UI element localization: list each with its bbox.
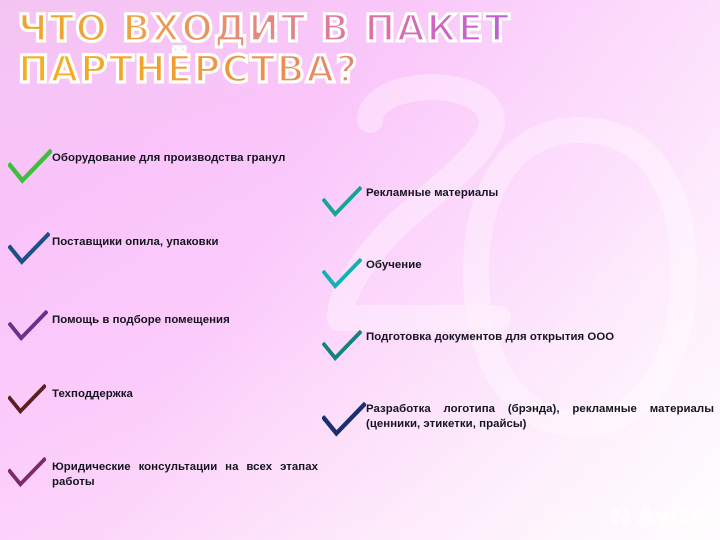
feature-label: Техподдержка xyxy=(52,384,318,402)
avito-dots-icon xyxy=(611,506,633,526)
feature-check-wrapper xyxy=(322,330,366,364)
feature-item: Юридические консультации на всех этапах … xyxy=(8,457,318,490)
feature-check-wrapper xyxy=(8,232,52,268)
feature-check-wrapper xyxy=(322,258,366,292)
checkmark-icon xyxy=(322,186,362,220)
feature-item: Обучение xyxy=(322,258,714,292)
poster-canvas: ЧТО ВХОДИТ В ПАКЕТ ПАРТНЁРСТВА? Оборудов… xyxy=(0,0,720,540)
feature-label: Разработка логотипа (брэнда), рекламные … xyxy=(366,402,714,431)
features-column-left: Оборудование для производства гранулПост… xyxy=(8,148,318,490)
feature-item: Поставщики опила, упаковки xyxy=(8,232,318,268)
avito-wordmark: Avito xyxy=(637,503,706,528)
title-line-1: ЧТО ВХОДИТ В ПАКЕТ xyxy=(18,8,578,49)
feature-item: Разработка логотипа (брэнда), рекламные … xyxy=(322,402,714,440)
feature-label: Помощь в подборе помещения xyxy=(52,310,318,328)
feature-label: Поставщики опила, упаковки xyxy=(52,232,318,250)
feature-label: Юридические консультации на всех этапах … xyxy=(52,457,318,489)
feature-check-wrapper xyxy=(322,186,366,220)
checkmark-icon xyxy=(8,384,46,417)
checkmark-icon xyxy=(322,330,362,364)
checkmark-icon xyxy=(8,232,50,268)
feature-check-wrapper xyxy=(8,148,52,188)
feature-item: Техподдержка xyxy=(8,384,318,417)
checkmark-icon xyxy=(8,457,46,490)
feature-item: Оборудование для производства гранул xyxy=(8,148,318,188)
feature-item: Помощь в подборе помещения xyxy=(8,310,318,344)
features-column-right: Рекламные материалыОбучениеПодготовка до… xyxy=(322,186,714,440)
feature-item: Рекламные материалы xyxy=(322,186,714,220)
avito-watermark: Avito xyxy=(611,503,706,528)
feature-label: Обучение xyxy=(366,258,714,273)
checkmark-icon xyxy=(8,310,48,344)
checkmark-icon xyxy=(322,402,366,440)
feature-label: Оборудование для производства гранул xyxy=(52,148,318,166)
feature-check-wrapper xyxy=(8,310,52,344)
poster-title: ЧТО ВХОДИТ В ПАКЕТ ПАРТНЁРСТВА? xyxy=(18,8,578,90)
checkmark-icon xyxy=(8,148,52,188)
feature-check-wrapper xyxy=(8,384,52,417)
checkmark-icon xyxy=(322,258,362,292)
feature-check-wrapper xyxy=(8,457,52,490)
feature-check-wrapper xyxy=(322,402,366,440)
feature-label: Подготовка документов для открытия ООО xyxy=(366,330,714,345)
feature-label: Рекламные материалы xyxy=(366,186,714,201)
title-line-2: ПАРТНЁРСТВА? xyxy=(18,49,578,90)
feature-item: Подготовка документов для открытия ООО xyxy=(322,330,714,364)
